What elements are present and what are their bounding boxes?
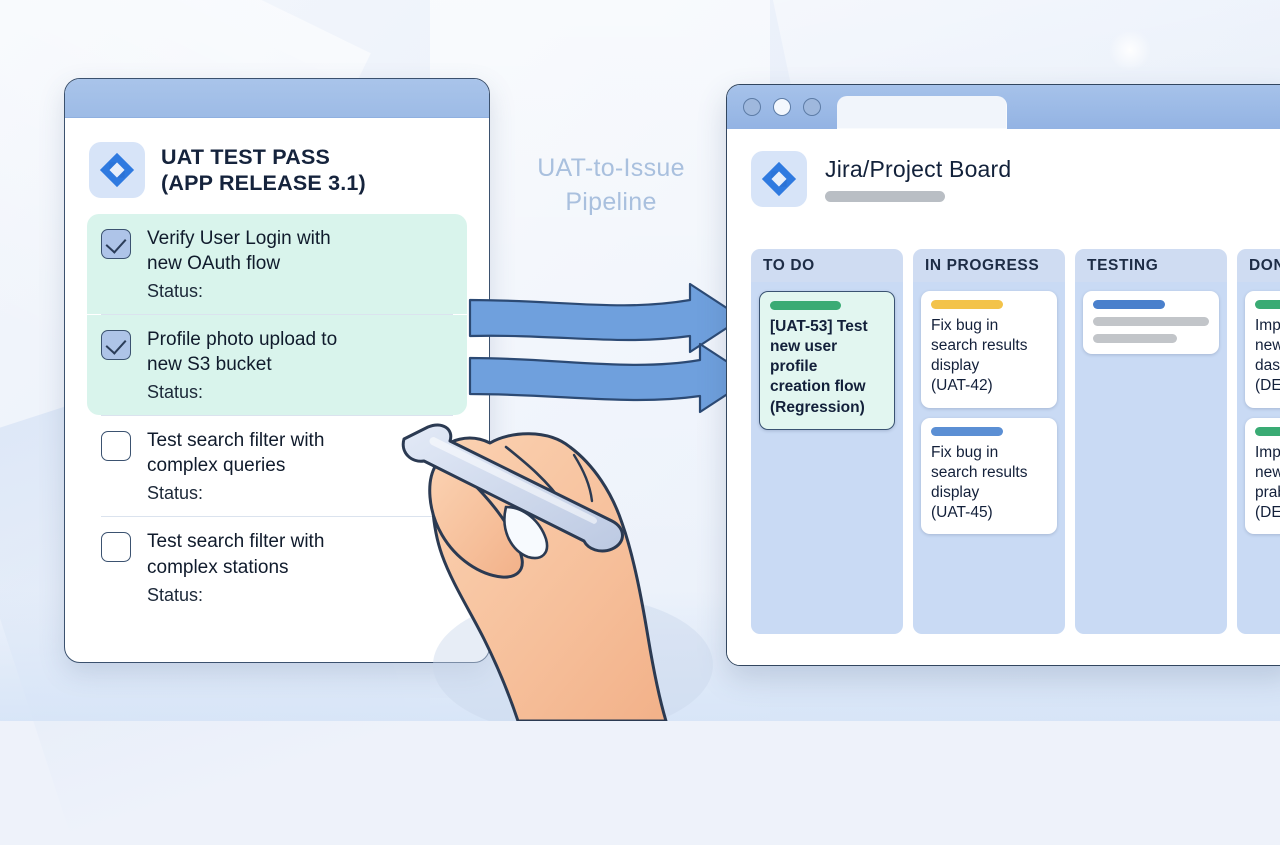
kanban-card[interactable]: [1083, 291, 1219, 354]
card-title-line: Fix bug in: [931, 316, 1047, 336]
card-title-line: new an: [1255, 336, 1280, 356]
panel-titlebar: [65, 79, 489, 118]
list-item-content: Verify User Login withnew OAuth flowStat…: [147, 226, 331, 302]
kanban-card[interactable]: Fix bug insearch resultsdisplay(UAT-45): [921, 418, 1057, 535]
card-key-line: (UAT-45): [931, 503, 1047, 523]
list-item-status: Status:: [147, 585, 324, 606]
list-item-label: new OAuth flow: [147, 251, 331, 276]
list-item[interactable]: Verify User Login withnew OAuth flowStat…: [87, 214, 467, 314]
list-item-label: new S3 bucket: [147, 352, 337, 377]
card-title-line: creation flow: [770, 377, 884, 397]
card-title-line: Implem: [1255, 443, 1280, 463]
jira-board-body: Jira/Project Board TO DO[UAT-53] Testnew…: [727, 129, 1280, 665]
list-item-label: complex stations: [147, 555, 324, 580]
card-key-line: (UAT-42): [931, 376, 1047, 396]
list-item-content: Profile photo upload tonew S3 bucketStat…: [147, 327, 337, 403]
card-key-line: (DEV-1: [1255, 503, 1280, 523]
checkbox-unchecked-icon[interactable]: [101, 431, 131, 461]
card-title-line: Implem: [1255, 316, 1280, 336]
kanban-column-to-do: TO DO[UAT-53] Testnew user profilecreati…: [751, 249, 903, 634]
card-tag: [931, 300, 1003, 309]
checkbox-checked-icon[interactable]: [101, 229, 131, 259]
kanban-card[interactable]: Implemnew anprabah(DEV-1: [1245, 418, 1280, 535]
list-item-content: Test search filter withcomplex stationsS…: [147, 529, 324, 605]
list-item-label: complex queries: [147, 453, 324, 478]
kanban-column-body: [1075, 282, 1227, 634]
checkbox-unchecked-icon[interactable]: [101, 532, 131, 562]
pipeline-caption: UAT-to-Issue Pipeline: [496, 152, 726, 220]
card-title-line: new an: [1255, 463, 1280, 483]
card-tag: [1255, 427, 1280, 436]
card-title-line: search results: [931, 336, 1047, 356]
board-title: Jira/Project Board: [825, 156, 1011, 183]
jira-header: Jira/Project Board: [727, 129, 1280, 207]
card-tag: [1093, 300, 1165, 309]
kanban-card[interactable]: Fix bug insearch resultsdisplay(UAT-42): [921, 291, 1057, 408]
minimize-dot-icon[interactable]: [773, 98, 791, 116]
card-tag: [931, 427, 1003, 436]
card-key-line: (Regression): [770, 398, 884, 418]
page-title: UAT TEST PASS (APP RELEASE 3.1): [161, 144, 366, 196]
card-title-line: dashbo: [1255, 356, 1280, 376]
kanban-column-in-progress: IN PROGRESSFix bug insearch resultsdispl…: [913, 249, 1065, 634]
list-item-label: Test search filter with: [147, 529, 324, 554]
kanban-column-body: Implemnew andashbo(DEV-1Implemnew anprab…: [1237, 282, 1280, 634]
card-placeholder-line: [1093, 317, 1209, 326]
uat-panel-header: UAT TEST PASS (APP RELEASE 3.1): [89, 142, 467, 198]
jira-browser-window: Jira/Project Board TO DO[UAT-53] Testnew…: [726, 84, 1280, 666]
card-title-line: new user profile: [770, 337, 884, 377]
kanban-column-header: DONE: [1237, 249, 1280, 282]
card-title-line: search results: [931, 463, 1047, 483]
list-item-label: Profile photo upload to: [147, 327, 337, 352]
kanban-column-body: [UAT-53] Testnew user profilecreation fl…: [751, 282, 903, 634]
kanban-card[interactable]: [UAT-53] Testnew user profilecreation fl…: [759, 291, 895, 430]
card-placeholder-line: [1093, 334, 1177, 343]
jira-diamond-icon: [751, 151, 807, 207]
list-item-status: Status:: [147, 382, 337, 403]
jira-diamond-icon: [89, 142, 145, 198]
uat-title-line2: (APP RELEASE 3.1): [161, 170, 366, 196]
kanban-column-done: DONEImplemnew andashbo(DEV-1Implemnew an…: [1237, 249, 1280, 634]
kanban-column-header: TO DO: [751, 249, 903, 282]
maximize-dot-icon[interactable]: [803, 98, 821, 116]
board-subtitle-placeholder: [825, 191, 945, 202]
close-dot-icon[interactable]: [743, 98, 761, 116]
pipeline-caption-line2: Pipeline: [496, 186, 726, 220]
list-item-status: Status:: [147, 483, 324, 504]
card-tag: [770, 301, 841, 310]
card-title-line: display: [931, 483, 1047, 503]
pipeline-caption-line1: UAT-to-Issue: [496, 152, 726, 186]
kanban-card[interactable]: Implemnew andashbo(DEV-1: [1245, 291, 1280, 408]
kanban-column-header: TESTING: [1075, 249, 1227, 282]
kanban-column-header: IN PROGRESS: [913, 249, 1065, 282]
card-title-line: [UAT-53] Test: [770, 317, 884, 337]
checkbox-checked-icon[interactable]: [101, 330, 131, 360]
list-item-label: Test search filter with: [147, 428, 324, 453]
browser-tab[interactable]: [837, 96, 1007, 129]
card-title-line: Fix bug in: [931, 443, 1047, 463]
kanban-column-body: Fix bug insearch resultsdisplay(UAT-42)F…: [913, 282, 1065, 634]
card-title-line: display: [931, 356, 1047, 376]
kanban-column-testing: TESTING: [1075, 249, 1227, 634]
uat-title-line1: UAT TEST PASS: [161, 144, 366, 170]
hand-stylus-illustration: [398, 415, 748, 721]
browser-chrome-bar: [727, 85, 1280, 129]
sparkle-icon: [1100, 20, 1160, 80]
card-key-line: (DEV-1: [1255, 376, 1280, 396]
card-title-line: prabah: [1255, 483, 1280, 503]
list-item-content: Test search filter withcomplex queriesSt…: [147, 428, 324, 504]
list-item-label: Verify User Login with: [147, 226, 331, 251]
list-item[interactable]: Profile photo upload tonew S3 bucketStat…: [87, 315, 467, 415]
card-tag: [1255, 300, 1280, 309]
list-item-status: Status:: [147, 281, 331, 302]
kanban-board: TO DO[UAT-53] Testnew user profilecreati…: [727, 233, 1280, 634]
